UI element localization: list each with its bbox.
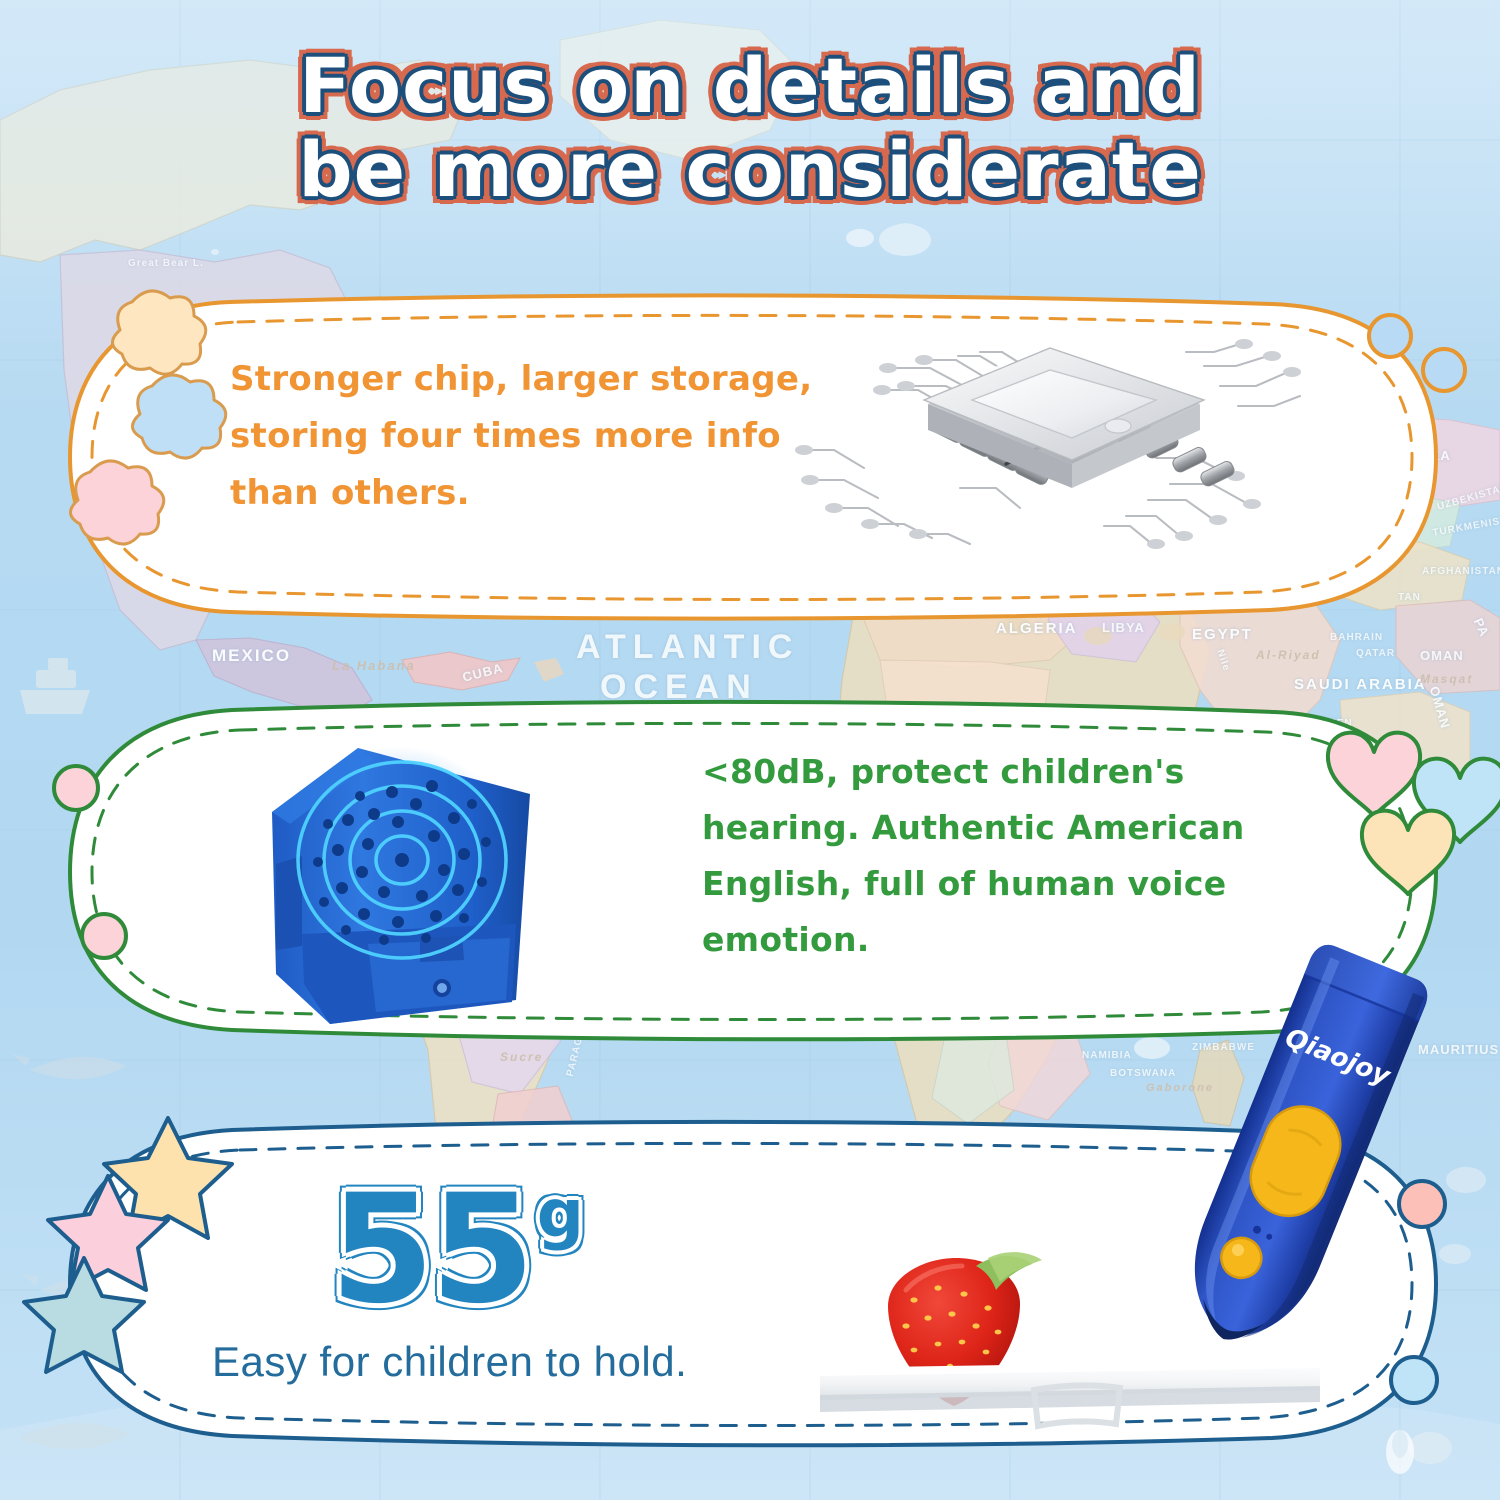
- reading-pen-image: Qiaojoy: [1170, 940, 1430, 1360]
- weight-badge: 55 g: [330, 1175, 584, 1325]
- speaker-image: [248, 738, 568, 1038]
- page-title-line-2: be more considerate: [0, 128, 1500, 212]
- card-weight-caption: Easy for children to hold.: [212, 1338, 687, 1386]
- card-chip-decor-blobs: [2, 306, 182, 606]
- card-chip-decor-circles: [1342, 306, 1500, 426]
- card-audio-text: <80dB, protect children's hearing. Authe…: [702, 744, 1282, 968]
- page-title-line-1: Focus on details and: [0, 44, 1500, 128]
- weight-value: 55: [330, 1175, 531, 1325]
- page-title: Focus on details and be more considerate: [0, 44, 1500, 212]
- weight-unit: g: [537, 1181, 584, 1247]
- card-audio-decor-hearts: [1302, 710, 1500, 910]
- card-chip-text: Stronger chip, larger storage, storing f…: [230, 351, 830, 522]
- microchip-image: [800, 338, 1300, 568]
- card-audio-decor-circles: [42, 750, 182, 1010]
